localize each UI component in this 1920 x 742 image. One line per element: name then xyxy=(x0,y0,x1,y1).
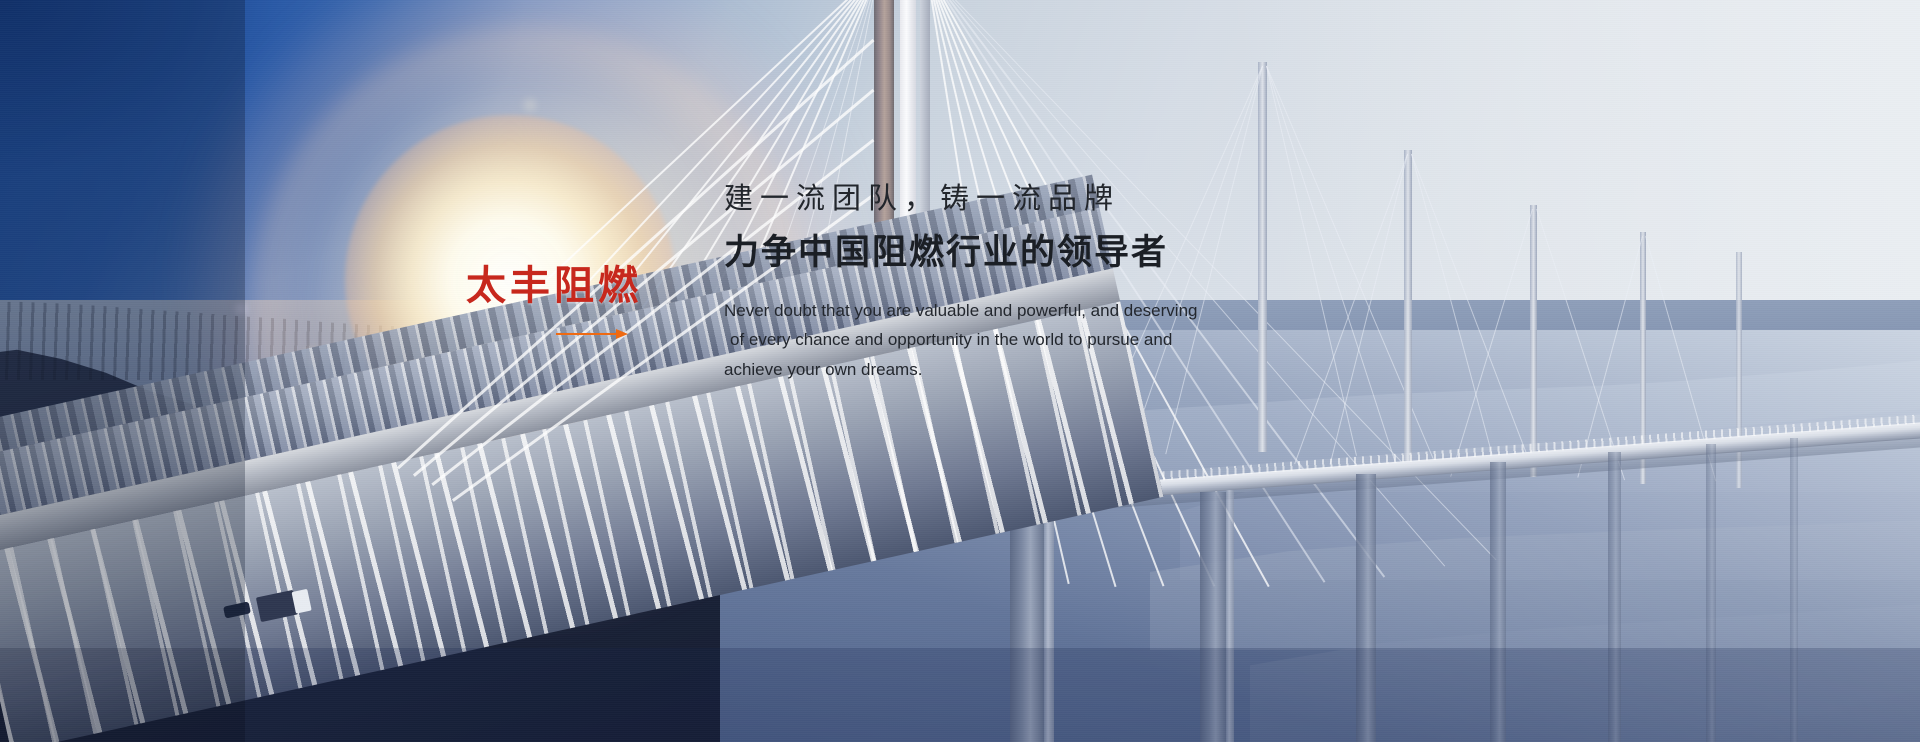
arrow-right-icon xyxy=(556,328,628,340)
banner-subtitle: 建一流团队，铸一流品牌 xyxy=(724,180,1344,216)
hero-banner: 太丰阻燃 建一流团队，铸一流品牌 力争中国阻燃行业的领导者 Never doub… xyxy=(0,0,1920,742)
banner-content: 太丰阻燃 建一流团队，铸一流品牌 力争中国阻燃行业的领导者 Never doub… xyxy=(0,0,1920,742)
paragraph-line-3: achieve your own dreams. xyxy=(724,355,1284,384)
paragraph-line-2: of every chance and opportunity in the w… xyxy=(724,325,1284,354)
banner-title: 力争中国阻燃行业的领导者 xyxy=(724,232,1344,274)
banner-copy: 建一流团队，铸一流品牌 力争中国阻燃行业的领导者 Never doubt tha… xyxy=(724,180,1344,384)
paragraph-line-1: Never doubt that you are valuable and po… xyxy=(724,296,1284,325)
brand-logo[interactable]: 太丰阻燃 xyxy=(466,266,666,340)
brand-name: 太丰阻燃 xyxy=(466,266,666,306)
banner-paragraph: Never doubt that you are valuable and po… xyxy=(724,296,1284,384)
